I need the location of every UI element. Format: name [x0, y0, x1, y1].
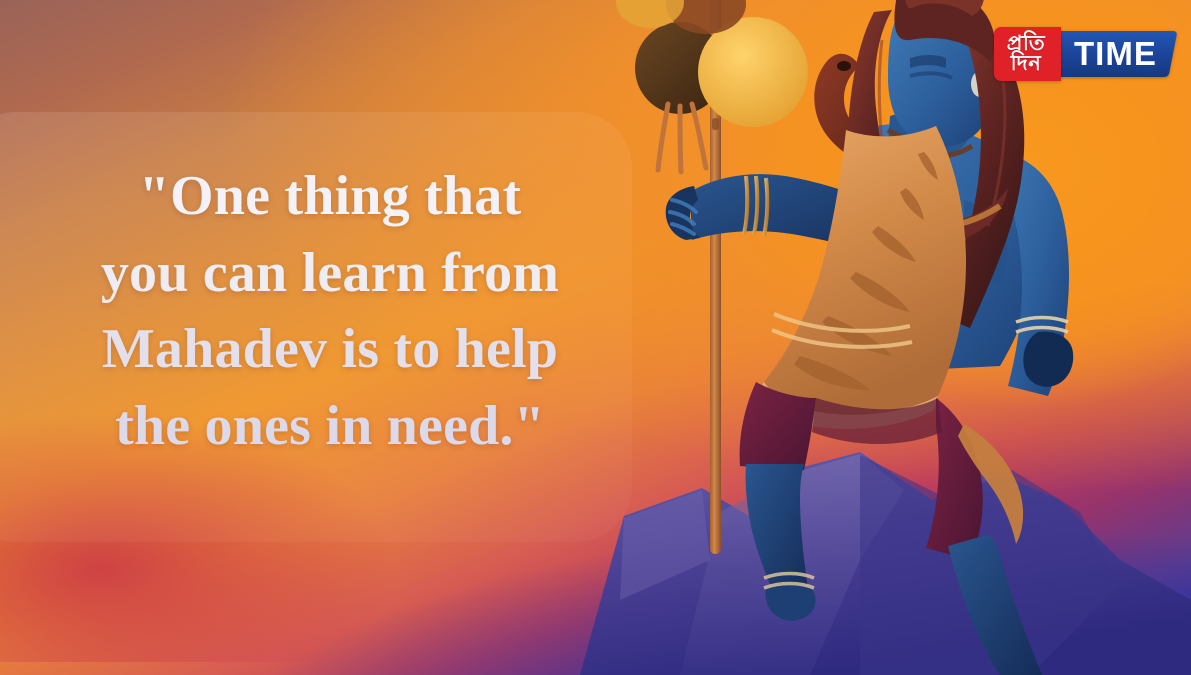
quote-line-4: the ones in need."	[40, 388, 620, 465]
quote-line-2: you can learn from	[40, 235, 620, 312]
logo-pratidin-badge: প্রতি দিন	[994, 27, 1061, 81]
quote-line-1: "One thing that	[40, 158, 620, 235]
logo-bangla-line-1: প্রতি	[1007, 34, 1045, 54]
quote-text: "One thing that you can learn from Mahad…	[40, 158, 620, 465]
brand-logo[interactable]: প্রতি দিন TIME	[994, 23, 1173, 85]
quote-card: "One thing that you can learn from Mahad…	[0, 0, 1191, 675]
logo-time-badge: TIME	[1048, 31, 1178, 77]
shiva-illustration	[560, 0, 1191, 675]
logo-wordmark: TIME	[1074, 35, 1157, 73]
quote-line-3: Mahadev is to help	[40, 311, 620, 388]
rock-formation	[580, 452, 1191, 675]
tiger-skin-garment	[758, 126, 966, 429]
logo-bangla-line-2: দিন	[1011, 54, 1042, 74]
